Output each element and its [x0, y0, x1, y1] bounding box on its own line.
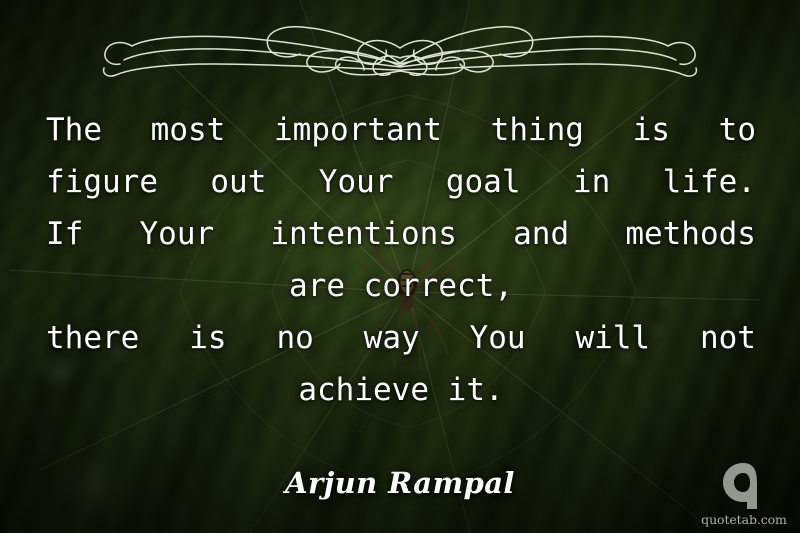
- quote-word: life.: [663, 156, 756, 208]
- quote-word: is: [189, 312, 226, 364]
- quote-text: The most important thing is to figure ou…: [46, 104, 756, 416]
- quote-word: most: [151, 104, 226, 156]
- watermark[interactable]: quotetab.com: [698, 461, 790, 527]
- quote-line: are correct,: [46, 260, 756, 312]
- quote-word: no: [276, 312, 313, 364]
- quote-line: The most important thing is to: [46, 104, 756, 156]
- quote-word: and: [513, 208, 569, 260]
- quote-word: The: [46, 104, 102, 156]
- quote-word: in: [573, 156, 610, 208]
- quote-word: methods: [625, 208, 756, 260]
- quote-image-card: The most important thing is to figure ou…: [0, 0, 800, 533]
- quote-line: there is no way You will not: [46, 312, 756, 364]
- quote-word: way: [364, 312, 420, 364]
- quote-word: You: [470, 312, 526, 364]
- quote-word: figure: [46, 156, 158, 208]
- quote-word: not: [700, 312, 756, 364]
- quote-line: figure out Your goal in life.: [46, 156, 756, 208]
- quote-word: If: [46, 208, 83, 260]
- quotetab-q-logo[interactable]: [721, 461, 767, 511]
- quote-author: Arjun Rampal: [0, 466, 800, 500]
- quote-word: important: [274, 104, 442, 156]
- quote-word: Your: [319, 156, 394, 208]
- watermark-site[interactable]: quotetab.com: [698, 512, 790, 527]
- quote-word: will: [575, 312, 650, 364]
- quote-line: achieve it.: [46, 364, 756, 416]
- quote-word: goal: [446, 156, 521, 208]
- decorative-flourish-divider: [88, 18, 712, 80]
- quote-word: Your: [140, 208, 215, 260]
- quote-word: to: [719, 104, 756, 156]
- quote-word: is: [633, 104, 670, 156]
- quote-word: there: [46, 312, 139, 364]
- quote-line: If Your intentions and methods: [46, 208, 756, 260]
- quote-word: intentions: [270, 208, 457, 260]
- quote-word: thing: [491, 104, 584, 156]
- quote-word: out: [210, 156, 266, 208]
